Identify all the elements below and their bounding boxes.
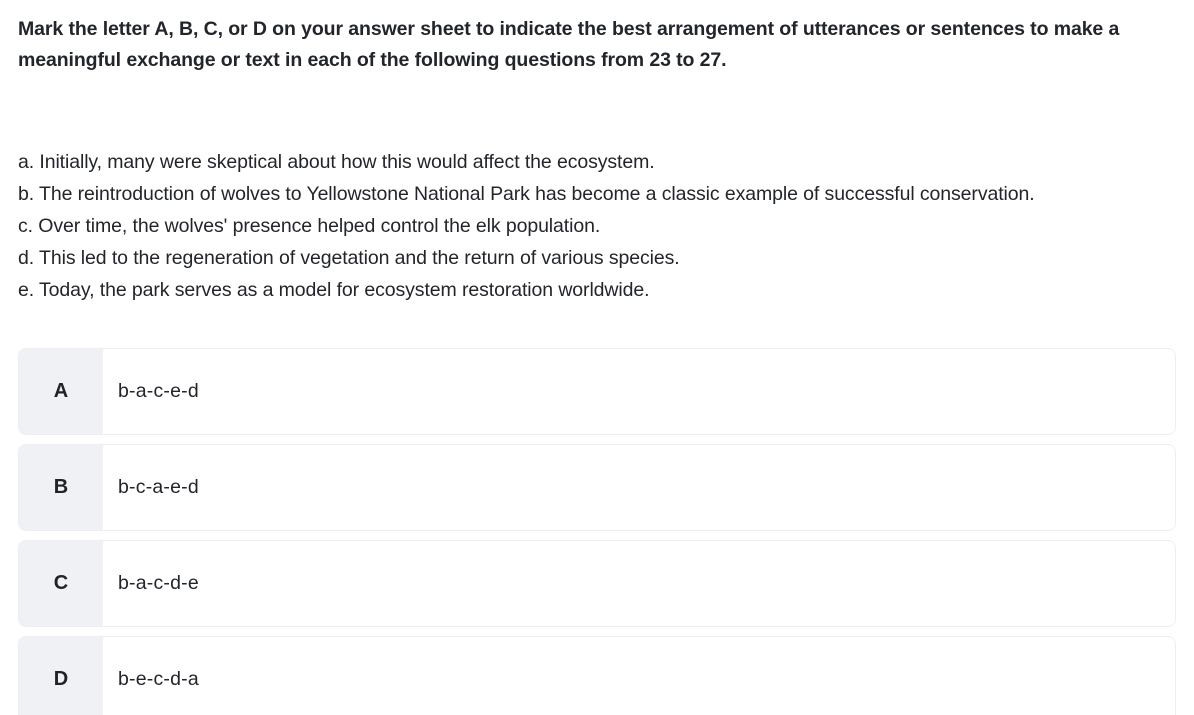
answer-option-a[interactable]: A b-a-c-e-d <box>18 348 1176 435</box>
question-line-e: e. Today, the park serves as a model for… <box>18 274 1138 306</box>
instruction-text: Mark the letter A, B, C, or D on your an… <box>18 14 1168 76</box>
question-line-a: a. Initially, many were skeptical about … <box>18 146 1138 178</box>
answer-options-list: A b-a-c-e-d B b-c-a-e-d C b-a-c-d-e D b-… <box>18 348 1176 715</box>
option-text-c: b-a-c-d-e <box>103 541 1175 626</box>
option-letter-badge-d: D <box>19 637 103 715</box>
option-text-d: b-e-c-d-a <box>103 637 1175 715</box>
option-text-a: b-a-c-e-d <box>103 349 1175 434</box>
question-line-b: b. The reintroduction of wolves to Yello… <box>18 178 1138 210</box>
option-letter-badge-b: B <box>19 445 103 530</box>
option-letter-badge-c: C <box>19 541 103 626</box>
question-page: Mark the letter A, B, C, or D on your an… <box>0 0 1194 715</box>
question-stem: a. Initially, many were skeptical about … <box>18 146 1138 306</box>
answer-option-b[interactable]: B b-c-a-e-d <box>18 444 1176 531</box>
answer-option-d[interactable]: D b-e-c-d-a <box>18 636 1176 715</box>
question-line-d: d. This led to the regeneration of veget… <box>18 242 1138 274</box>
option-text-b: b-c-a-e-d <box>103 445 1175 530</box>
option-letter-badge-a: A <box>19 349 103 434</box>
question-line-c: c. Over time, the wolves' presence helpe… <box>18 210 1138 242</box>
answer-option-c[interactable]: C b-a-c-d-e <box>18 540 1176 627</box>
